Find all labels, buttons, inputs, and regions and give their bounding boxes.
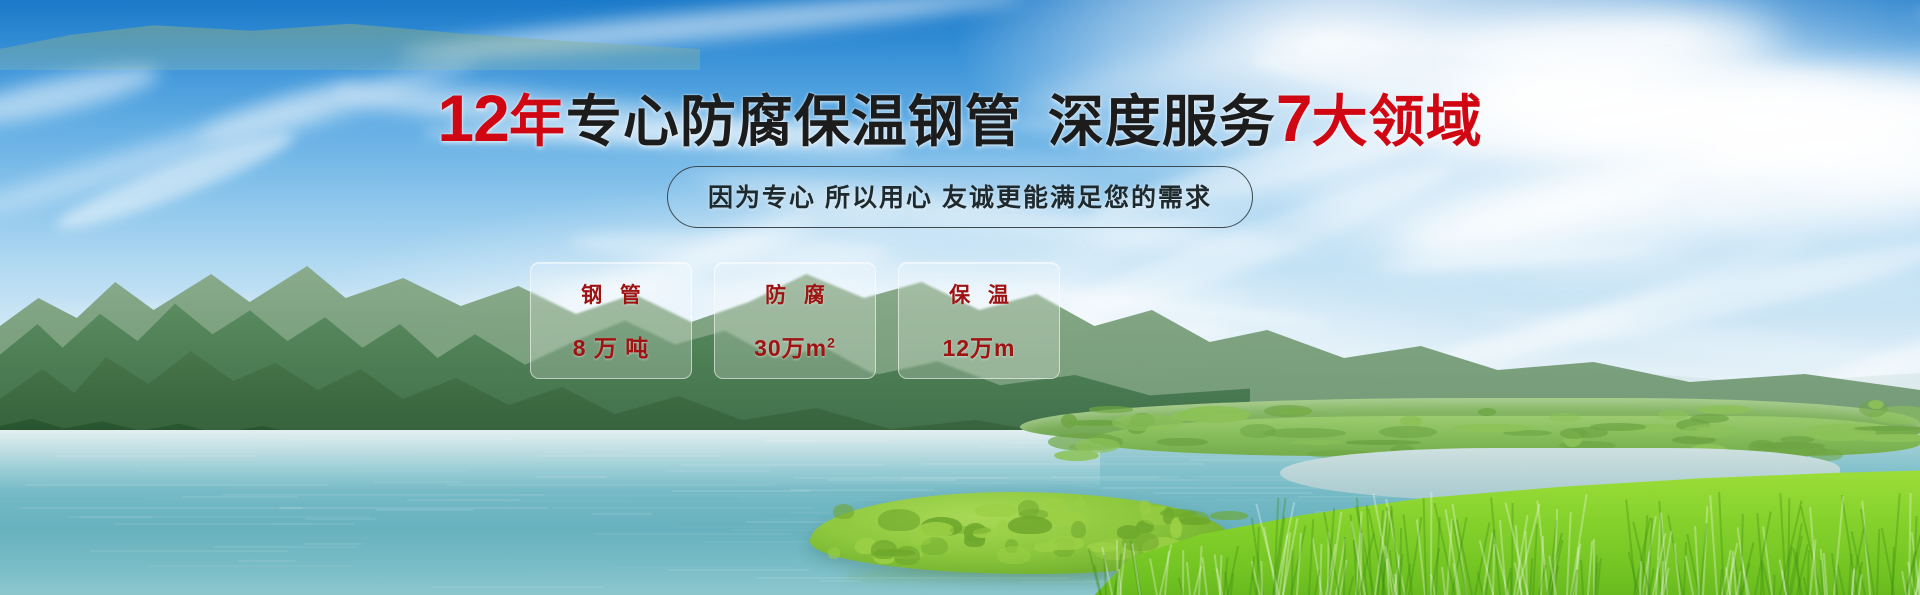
stat-card-title: 保 温 [943, 279, 1015, 309]
subtitle-row: 因为专心 所以用心 友诚更能满足您的需求 [0, 166, 1920, 228]
stats-card-group: 钢 管 8 万 吨 防 腐 30万m2 保 温 12万m [530, 262, 1060, 379]
stat-card[interactable]: 钢 管 8 万 吨 [530, 262, 692, 379]
stat-card-title: 防 腐 [759, 279, 831, 309]
headline-fields-unit: 大领域 [1312, 90, 1483, 153]
headline-segment-two: 深度服务 [1048, 90, 1276, 153]
stat-card-title: 钢 管 [575, 279, 647, 309]
headline-fields-number: 7 [1276, 81, 1312, 155]
stat-card-value: 30万m2 [754, 329, 836, 363]
stat-card-value-text: 30万m [754, 335, 827, 361]
stat-card-value-text: 8 万 吨 [573, 335, 650, 361]
subtitle-pill: 因为专心 所以用心 友诚更能满足您的需求 [667, 166, 1253, 228]
promo-banner: 12年专心防腐保温钢管深度服务7大领域 因为专心 所以用心 友诚更能满足您的需求… [0, 0, 1920, 595]
headline: 12年专心防腐保温钢管深度服务7大领域 [0, 84, 1920, 153]
headline-years-number: 12 [437, 81, 508, 155]
stat-card-value-superscript: 2 [827, 334, 836, 350]
headline-segment-one: 专心防腐保温钢管 [566, 90, 1022, 153]
stat-card[interactable]: 保 温 12万m [898, 262, 1060, 379]
stat-card[interactable]: 防 腐 30万m2 [714, 262, 876, 379]
banner-content: 12年专心防腐保温钢管深度服务7大领域 因为专心 所以用心 友诚更能满足您的需求… [0, 0, 1920, 595]
headline-years-unit: 年 [509, 90, 566, 153]
stat-card-value-text: 12万m [942, 335, 1015, 361]
stat-card-value: 12万m [942, 329, 1015, 363]
stat-card-value: 8 万 吨 [573, 329, 650, 363]
